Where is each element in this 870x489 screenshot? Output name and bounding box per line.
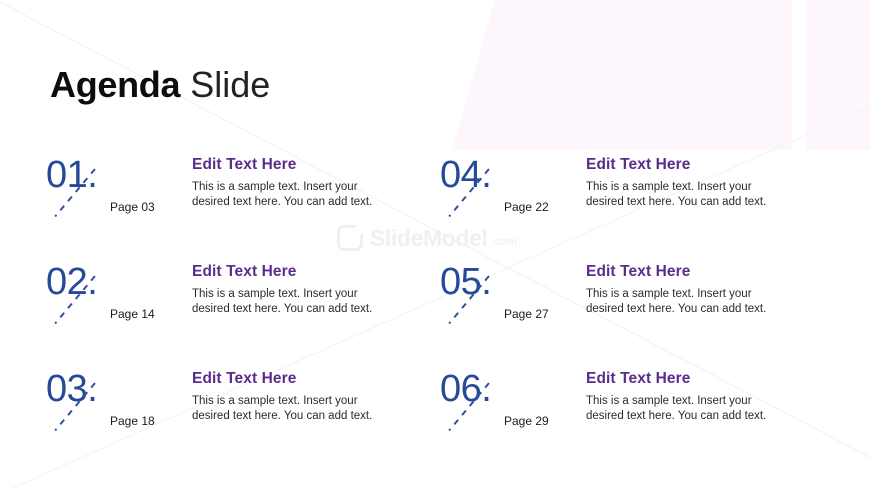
page-title-light: Slide [190,64,270,105]
agenda-item-body[interactable]: This is a sample text. Insert your desir… [586,394,791,424]
watermark-tld-text: .com [491,236,517,251]
agenda-item-heading[interactable]: Edit Text Here [586,155,836,175]
agenda-item-page-label: Page 03 [110,199,155,215]
agenda-item-page-label: Page 18 [110,413,155,429]
agenda-item-heading[interactable]: Edit Text Here [586,369,836,389]
agenda-item-page-label: Page 14 [110,306,155,322]
agenda-item[interactable]: 05. Page 27 Edit Text Here This is a sam… [438,262,838,334]
page-title-bold: Agenda [50,64,180,105]
agenda-item[interactable]: 02. Page 14 Edit Text Here This is a sam… [44,262,444,334]
agenda-item-text-block: Edit Text Here This is a sample text. In… [192,155,442,210]
agenda-item-heading[interactable]: Edit Text Here [192,155,442,175]
decorative-shape-primary [452,0,792,150]
slidemodel-logo-icon [337,225,363,251]
agenda-item-text-block: Edit Text Here This is a sample text. In… [586,369,836,424]
agenda-item-heading[interactable]: Edit Text Here [192,262,442,282]
agenda-item[interactable]: 04. Page 22 Edit Text Here This is a sam… [438,155,838,227]
agenda-item[interactable]: 01. Page 03 Edit Text Here This is a sam… [44,155,444,227]
agenda-item-number-block: 04. Page 22 [438,155,588,227]
agenda-item-text-block: Edit Text Here This is a sample text. In… [192,369,442,424]
agenda-item-number-block: 01. Page 03 [44,155,194,227]
agenda-item-page-label: Page 29 [504,413,549,429]
agenda-slide: Agenda Slide 01. Page 03 Edit Text Here … [0,0,870,489]
agenda-item-heading[interactable]: Edit Text Here [586,262,836,282]
agenda-item-number-block: 06. Page 29 [438,369,588,441]
agenda-item-text-block: Edit Text Here This is a sample text. In… [586,155,836,210]
agenda-item-page-label: Page 22 [504,199,549,215]
agenda-item-text-block: Edit Text Here This is a sample text. In… [192,262,442,317]
slidemodel-watermark: SlideModel .com [337,225,517,251]
decorative-shape-secondary [806,0,870,150]
agenda-item[interactable]: 06. Page 29 Edit Text Here This is a sam… [438,369,838,441]
agenda-item[interactable]: 03. Page 18 Edit Text Here This is a sam… [44,369,444,441]
agenda-item-body[interactable]: This is a sample text. Insert your desir… [192,394,397,424]
watermark-brand-text: SlideModel [370,225,487,251]
agenda-item-heading[interactable]: Edit Text Here [192,369,442,389]
agenda-item-body[interactable]: This is a sample text. Insert your desir… [586,180,791,210]
agenda-item-body[interactable]: This is a sample text. Insert your desir… [192,180,397,210]
agenda-item-text-block: Edit Text Here This is a sample text. In… [586,262,836,317]
agenda-item-number-block: 02. Page 14 [44,262,194,334]
agenda-item-page-label: Page 27 [504,306,549,322]
page-title: Agenda Slide [50,63,270,107]
agenda-item-body[interactable]: This is a sample text. Insert your desir… [192,287,397,317]
agenda-item-body[interactable]: This is a sample text. Insert your desir… [586,287,791,317]
agenda-item-number-block: 05. Page 27 [438,262,588,334]
agenda-item-number-block: 03. Page 18 [44,369,194,441]
